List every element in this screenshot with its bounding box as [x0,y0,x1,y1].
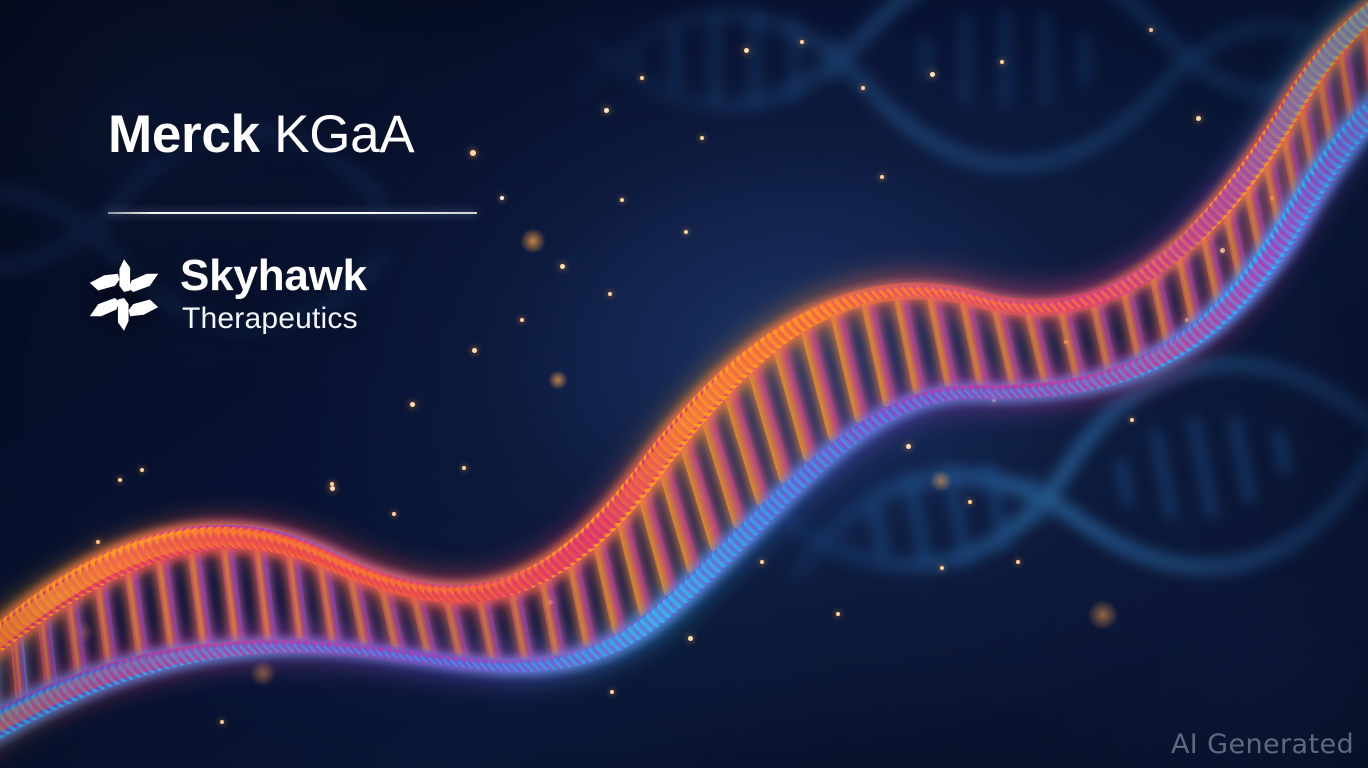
partner-two-lockup: Skyhawk Therapeutics [86,252,367,336]
merck-suffix: KGaA [274,105,414,164]
partner-one-title: Merck KGaA [108,104,414,166]
ai-generated-watermark: AI Generated [1171,729,1354,760]
skyhawk-wordmark: Skyhawk Therapeutics [180,252,367,336]
skyhawk-name: Skyhawk [180,252,367,300]
text-overlay: Merck KGaA [0,0,1368,768]
brand-divider [108,212,477,214]
merck-name: Merck [108,105,260,164]
key-visual-canvas: Merck KGaA [0,0,1368,768]
skyhawk-descriptor: Therapeutics [182,302,367,336]
skyhawk-pinwheel-icon [86,256,162,334]
